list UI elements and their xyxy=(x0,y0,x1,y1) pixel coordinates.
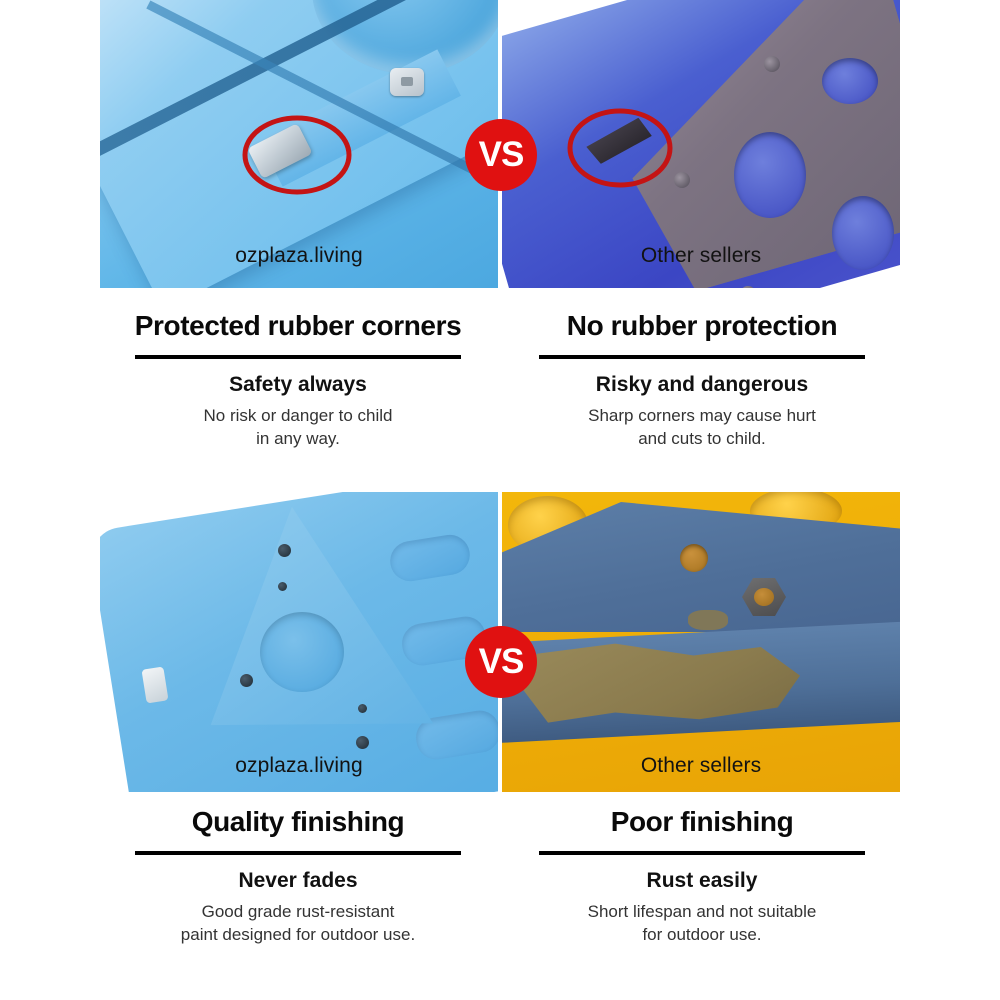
product-photo-ours-corner: ozplaza.living xyxy=(100,0,498,288)
product-photo-theirs-finish: Other sellers xyxy=(502,492,900,792)
photo-artwork-rusty-yellow-table xyxy=(502,492,900,792)
comparison-row-corner-protection: ozplaza.living VS Other sellers xyxy=(0,0,1000,480)
photo-artwork-blue-bracket xyxy=(100,492,498,792)
comparison-row-finishing-quality: ozplaza.living VS Other sellers Quality … xyxy=(0,480,1000,1000)
rivet-shape xyxy=(356,736,369,749)
rivet-shape xyxy=(278,544,291,557)
headline-rule xyxy=(135,851,461,855)
watermark-ours: ozplaza.living xyxy=(100,754,498,778)
subhead-ours: Safety always xyxy=(98,373,498,397)
headline-rule xyxy=(539,851,865,855)
subhead-theirs: Rust easily xyxy=(502,869,902,893)
watermark-ours: ozplaza.living xyxy=(100,244,498,268)
subhead-theirs: Risky and dangerous xyxy=(502,373,902,397)
bracket-recess-shape xyxy=(260,612,344,692)
headline-theirs: Poor finishing xyxy=(502,806,902,838)
product-photo-theirs-corner: Other sellers xyxy=(502,0,900,288)
watermark-theirs: Other sellers xyxy=(502,754,900,778)
description-line: No risk or danger to child xyxy=(98,405,498,428)
rust-patch-shape xyxy=(688,610,728,630)
drill-hole-shape xyxy=(680,544,708,572)
description-theirs: Sharp corners may cause hurt and cuts to… xyxy=(502,405,902,451)
headline-rule xyxy=(135,355,461,359)
description-line: Good grade rust-resistant xyxy=(98,901,498,924)
rivet-shape xyxy=(358,704,367,713)
description-theirs: Short lifespan and not suitable for outd… xyxy=(502,901,902,947)
description-line: and cuts to child. xyxy=(502,428,902,451)
vs-badge-finish: VS xyxy=(465,626,537,698)
caption-block-theirs-corner: No rubber protection Risky and dangerous… xyxy=(502,310,902,451)
description-ours: Good grade rust-resistant paint designed… xyxy=(98,901,498,947)
rivet-shape xyxy=(278,582,287,591)
vs-badge-corner: VS xyxy=(465,119,537,191)
headline-ours: Protected rubber corners xyxy=(98,310,498,342)
caption-block-ours-corner: Protected rubber corners Safety always N… xyxy=(98,310,498,451)
comparison-infographic: ozplaza.living VS Other sellers xyxy=(0,0,1000,1000)
headline-rule xyxy=(539,355,865,359)
rivet-shape xyxy=(240,674,253,687)
headline-ours: Quality finishing xyxy=(98,806,498,838)
product-photo-ours-finish: ozplaza.living xyxy=(100,492,498,792)
description-line: for outdoor use. xyxy=(502,924,902,947)
caption-block-theirs-finish: Poor finishing Rust easily Short lifespa… xyxy=(502,806,902,947)
watermark-theirs: Other sellers xyxy=(502,244,900,268)
description-line: paint designed for outdoor use. xyxy=(98,924,498,947)
caption-block-ours-finish: Quality finishing Never fades Good grade… xyxy=(98,806,498,947)
description-line: Short lifespan and not suitable xyxy=(502,901,902,924)
description-ours: No risk or danger to child in any way. xyxy=(98,405,498,451)
description-line: in any way. xyxy=(98,428,498,451)
headline-theirs: No rubber protection xyxy=(502,310,902,342)
subhead-ours: Never fades xyxy=(98,869,498,893)
description-line: Sharp corners may cause hurt xyxy=(502,405,902,428)
